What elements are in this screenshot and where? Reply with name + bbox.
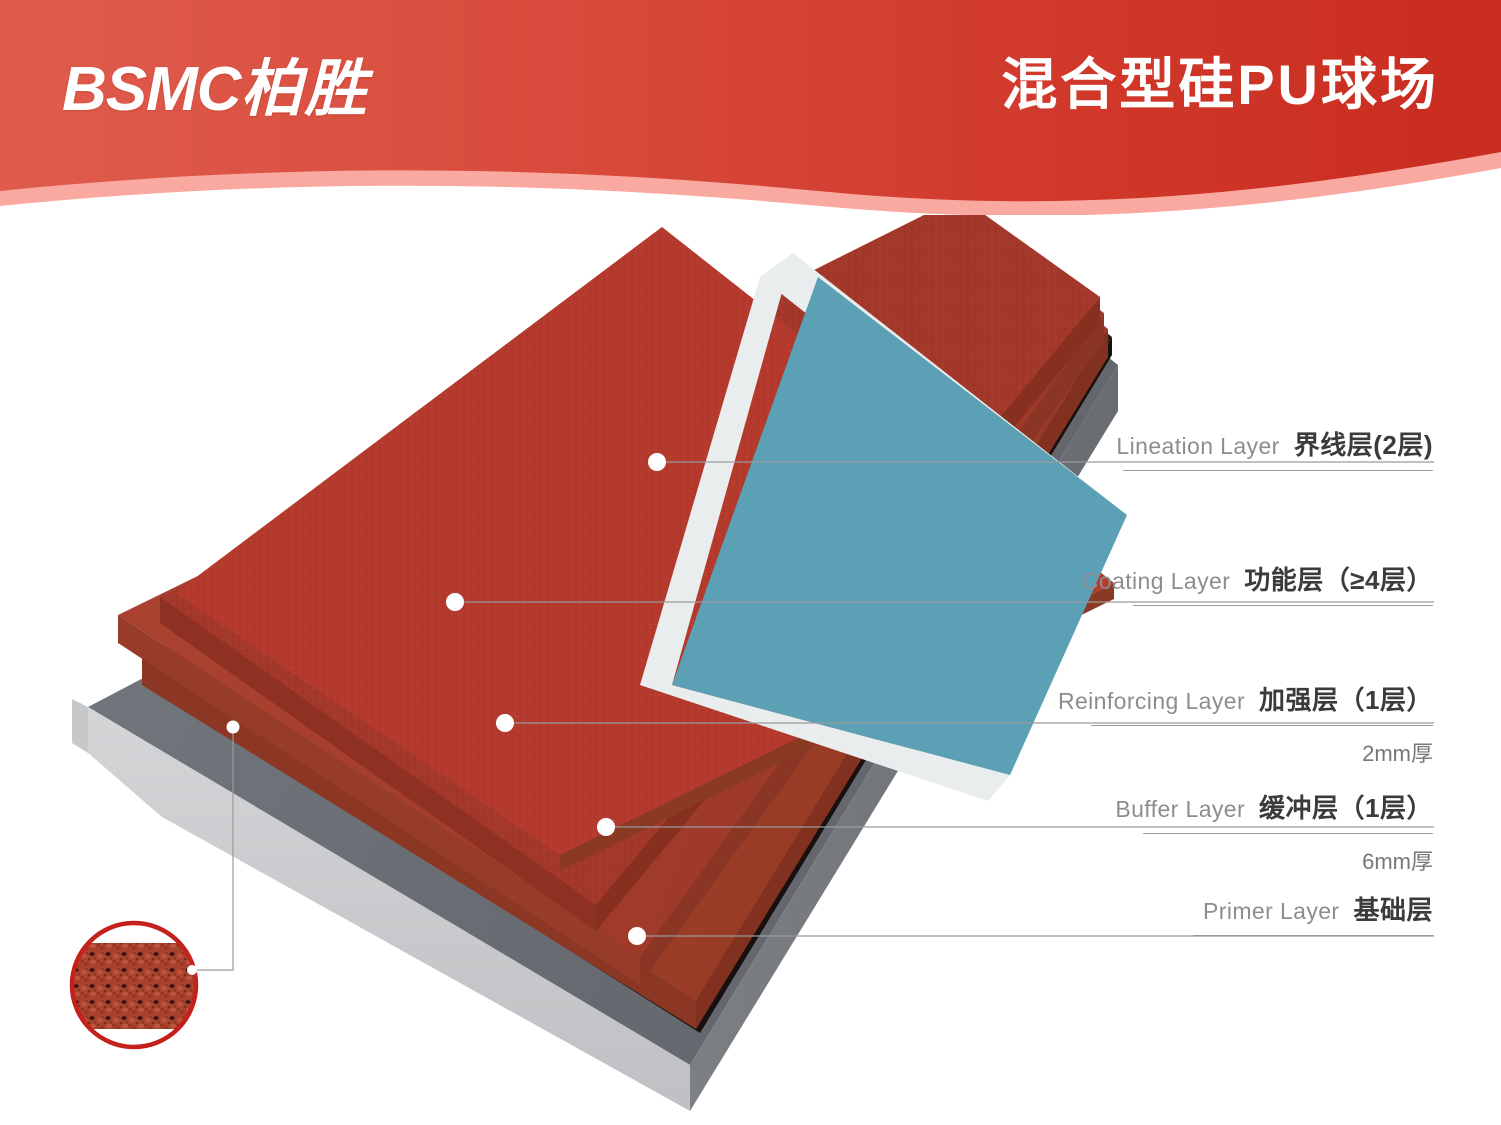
label-buffer-en: Buffer Layer — [1115, 796, 1245, 823]
label-coating-cn: 功能层（≥4层） — [1244, 560, 1433, 597]
leader-dot-magnifier-origin — [227, 721, 240, 734]
label-reinforcing-layer[interactable]: Reinforcing Layer 加强层（1层） 2mm厚 — [1091, 680, 1433, 768]
leader-dot-buffer — [597, 818, 615, 836]
label-coating-layer[interactable]: Coating Layer 功能层（≥4层） — [1133, 560, 1433, 606]
slide-canvas: BSMC柏胜 混合型硅PU球场 — [0, 0, 1501, 1125]
header-banner: BSMC柏胜 混合型硅PU球场 — [0, 0, 1501, 215]
leader-dot-coating — [446, 593, 464, 611]
diagram-svg — [0, 215, 1501, 1125]
label-buffer-cn: 缓冲层（1层） — [1259, 788, 1433, 825]
label-buffer-thickness: 6mm厚 — [1143, 844, 1433, 876]
magnifier-anchor-dot — [187, 965, 197, 975]
label-primer-rule — [1193, 935, 1433, 936]
magnifier-detail — [60, 923, 210, 1047]
label-primer-layer[interactable]: Primer Layer 基础层 — [1193, 890, 1433, 936]
label-lineation-en: Lineation Layer — [1116, 433, 1279, 460]
label-primer-cn: 基础层 — [1353, 890, 1433, 927]
primer-bevel — [72, 699, 88, 753]
label-reinforcing-en: Reinforcing Layer — [1058, 688, 1245, 715]
label-reinforcing-cn: 加强层（1层） — [1259, 680, 1433, 717]
brand-cn: 柏胜 — [241, 55, 369, 124]
label-lineation-layer[interactable]: Lineation Layer 界线层(2层) — [1123, 425, 1433, 471]
court-layer-diagram — [0, 215, 1501, 1125]
label-reinforcing-rule — [1091, 725, 1433, 726]
label-primer-en: Primer Layer — [1203, 898, 1339, 925]
label-reinforcing-thickness: 2mm厚 — [1091, 736, 1433, 768]
leader-dot-primer — [628, 927, 646, 945]
leader-dot-reinforcing — [496, 714, 514, 732]
brand-logo: BSMC柏胜 — [62, 38, 369, 128]
label-lineation-cn: 界线层(2层) — [1294, 425, 1433, 462]
brand-latin: BSMC — [62, 55, 241, 124]
label-buffer-rule — [1143, 833, 1433, 834]
label-coating-en: Coating Layer — [1082, 568, 1230, 595]
leader-dot-lineation — [648, 453, 666, 471]
label-coating-rule — [1133, 605, 1433, 606]
page-title: 混合型硅PU球场 — [1001, 40, 1439, 121]
label-lineation-rule — [1123, 470, 1433, 471]
label-buffer-layer[interactable]: Buffer Layer 缓冲层（1层） 6mm厚 — [1143, 788, 1433, 876]
